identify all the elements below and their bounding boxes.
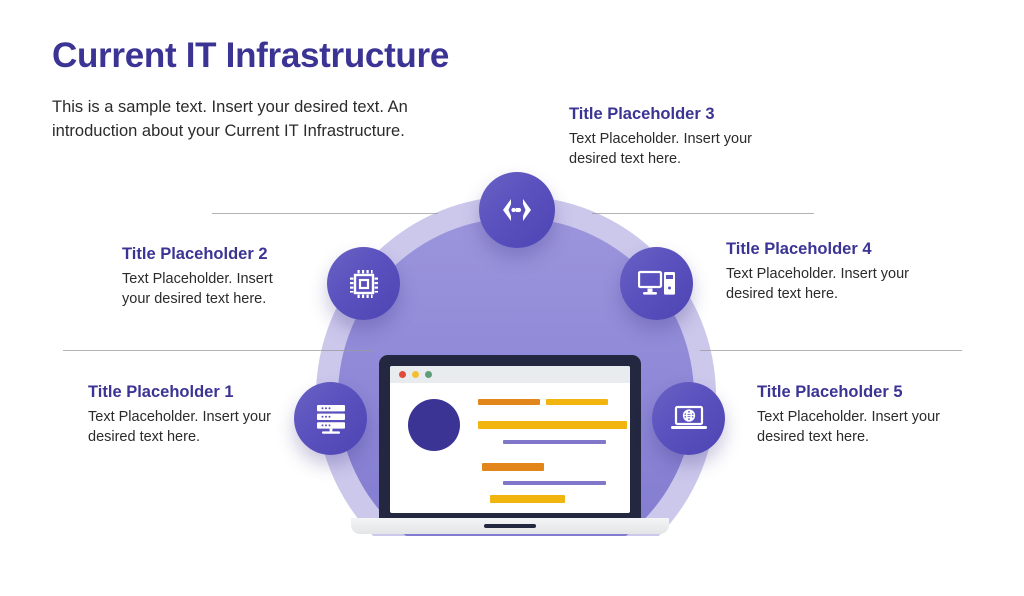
icon-bubble-server[interactable] <box>294 382 367 455</box>
laptop-globe-icon <box>670 405 708 433</box>
block-body: Text Placeholder. Insert your desired te… <box>726 264 916 304</box>
block-title: Title Placeholder 1 <box>88 383 278 402</box>
block-body: Text Placeholder. Insert your desired te… <box>122 269 302 309</box>
content-bar <box>478 399 540 405</box>
connector-line-mid-left <box>63 350 373 351</box>
browser-titlebar <box>390 366 630 383</box>
connector-line-mid-right <box>700 350 962 351</box>
content-bar <box>478 421 627 429</box>
intro-paragraph: This is a sample text. Insert your desir… <box>52 95 472 144</box>
desktop-computer-icon <box>638 269 676 299</box>
placeholder-block-5: Title Placeholder 5 Text Placeholder. In… <box>757 383 947 447</box>
placeholder-block-3: Title Placeholder 3 Text Placeholder. In… <box>569 105 759 169</box>
icon-bubble-laptop-globe[interactable] <box>652 382 725 455</box>
window-maximize-dot <box>425 371 432 378</box>
connector-line-top-left <box>212 213 438 214</box>
block-body: Text Placeholder. Insert your desired te… <box>569 129 759 169</box>
icon-bubble-code-api[interactable] <box>479 172 555 248</box>
content-bar <box>503 481 606 485</box>
window-close-dot <box>399 371 406 378</box>
block-body: Text Placeholder. Insert your desired te… <box>757 407 947 447</box>
trackpad-notch <box>484 524 536 528</box>
avatar <box>408 399 460 451</box>
code-api-icon <box>500 196 534 224</box>
icon-bubble-cpu-chip[interactable] <box>327 247 400 320</box>
block-body: Text Placeholder. Insert your desired te… <box>88 407 278 447</box>
block-title: Title Placeholder 2 <box>122 245 302 264</box>
content-bar <box>490 495 565 503</box>
placeholder-block-1: Title Placeholder 1 Text Placeholder. In… <box>88 383 278 447</box>
content-bar <box>482 463 544 471</box>
placeholder-block-4: Title Placeholder 4 Text Placeholder. In… <box>726 240 916 304</box>
laptop-base <box>351 518 669 534</box>
browser-window <box>390 366 630 513</box>
laptop-screen <box>379 355 641 522</box>
icon-bubble-desktop-computer[interactable] <box>620 247 693 320</box>
page-title: Current IT Infrastructure <box>52 36 449 76</box>
server-icon <box>314 403 348 435</box>
block-title: Title Placeholder 5 <box>757 383 947 402</box>
cpu-chip-icon <box>347 267 381 301</box>
window-minimize-dot <box>412 371 419 378</box>
stage-mask <box>250 536 790 596</box>
connector-line-top-right <box>592 213 814 214</box>
block-title: Title Placeholder 3 <box>569 105 759 124</box>
browser-content <box>390 383 630 513</box>
block-title: Title Placeholder 4 <box>726 240 916 259</box>
content-bar <box>546 399 608 405</box>
placeholder-block-2: Title Placeholder 2 Text Placeholder. In… <box>122 245 302 309</box>
content-bar <box>503 440 606 444</box>
